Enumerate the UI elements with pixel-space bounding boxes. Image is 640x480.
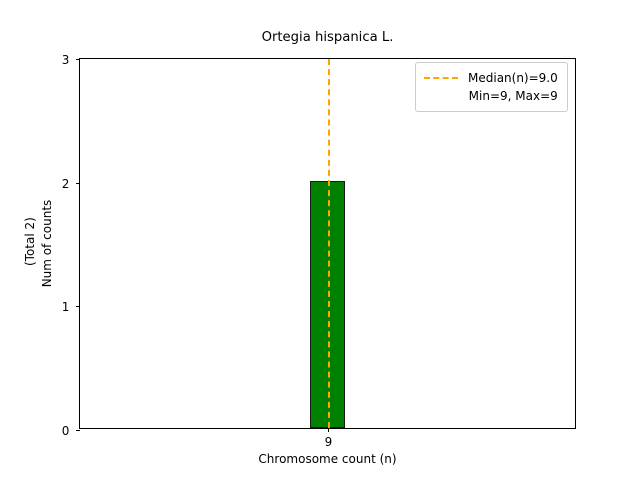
- x-axis-label: Chromosome count (n): [79, 452, 576, 467]
- legend-entry-median: Median(n)=9.0: [424, 69, 558, 87]
- legend-label-median: Median(n)=9.0: [468, 70, 558, 86]
- xtick-9: 9: [328, 428, 329, 432]
- legend-entry-minmax: Min=9, Max=9: [424, 87, 558, 105]
- legend: Median(n)=9.0 Min=9, Max=9: [415, 62, 568, 112]
- plot-area: 0 1 2 3 9: [79, 58, 576, 429]
- y-axis-label-line1: Num of counts: [40, 200, 54, 288]
- y-axis-label: (Total 2)Num of counts: [22, 58, 56, 429]
- chart-title: Ortegia hispanica L.: [79, 30, 576, 46]
- matplotlib-figure: Ortegia hispanica L. 0 1 2 3 9 Chromosom…: [0, 0, 640, 480]
- dashed-line-icon: [424, 77, 458, 79]
- plot-inner: [80, 59, 575, 428]
- ytick-2: 2: [76, 183, 80, 184]
- ytick-0: 0: [76, 430, 80, 431]
- ytick-3: 3: [76, 59, 80, 60]
- ytick-label-3: 3: [62, 52, 70, 68]
- ytick-label-1: 1: [62, 299, 70, 315]
- ytick-label-0: 0: [62, 423, 70, 439]
- y-axis-label-line2: (Total 2): [23, 217, 37, 270]
- median-line: [328, 59, 330, 428]
- xtick-label-9: 9: [325, 434, 333, 450]
- legend-label-minmax: Min=9, Max=9: [469, 88, 558, 104]
- ytick-1: 1: [76, 306, 80, 307]
- ytick-label-2: 2: [62, 176, 70, 192]
